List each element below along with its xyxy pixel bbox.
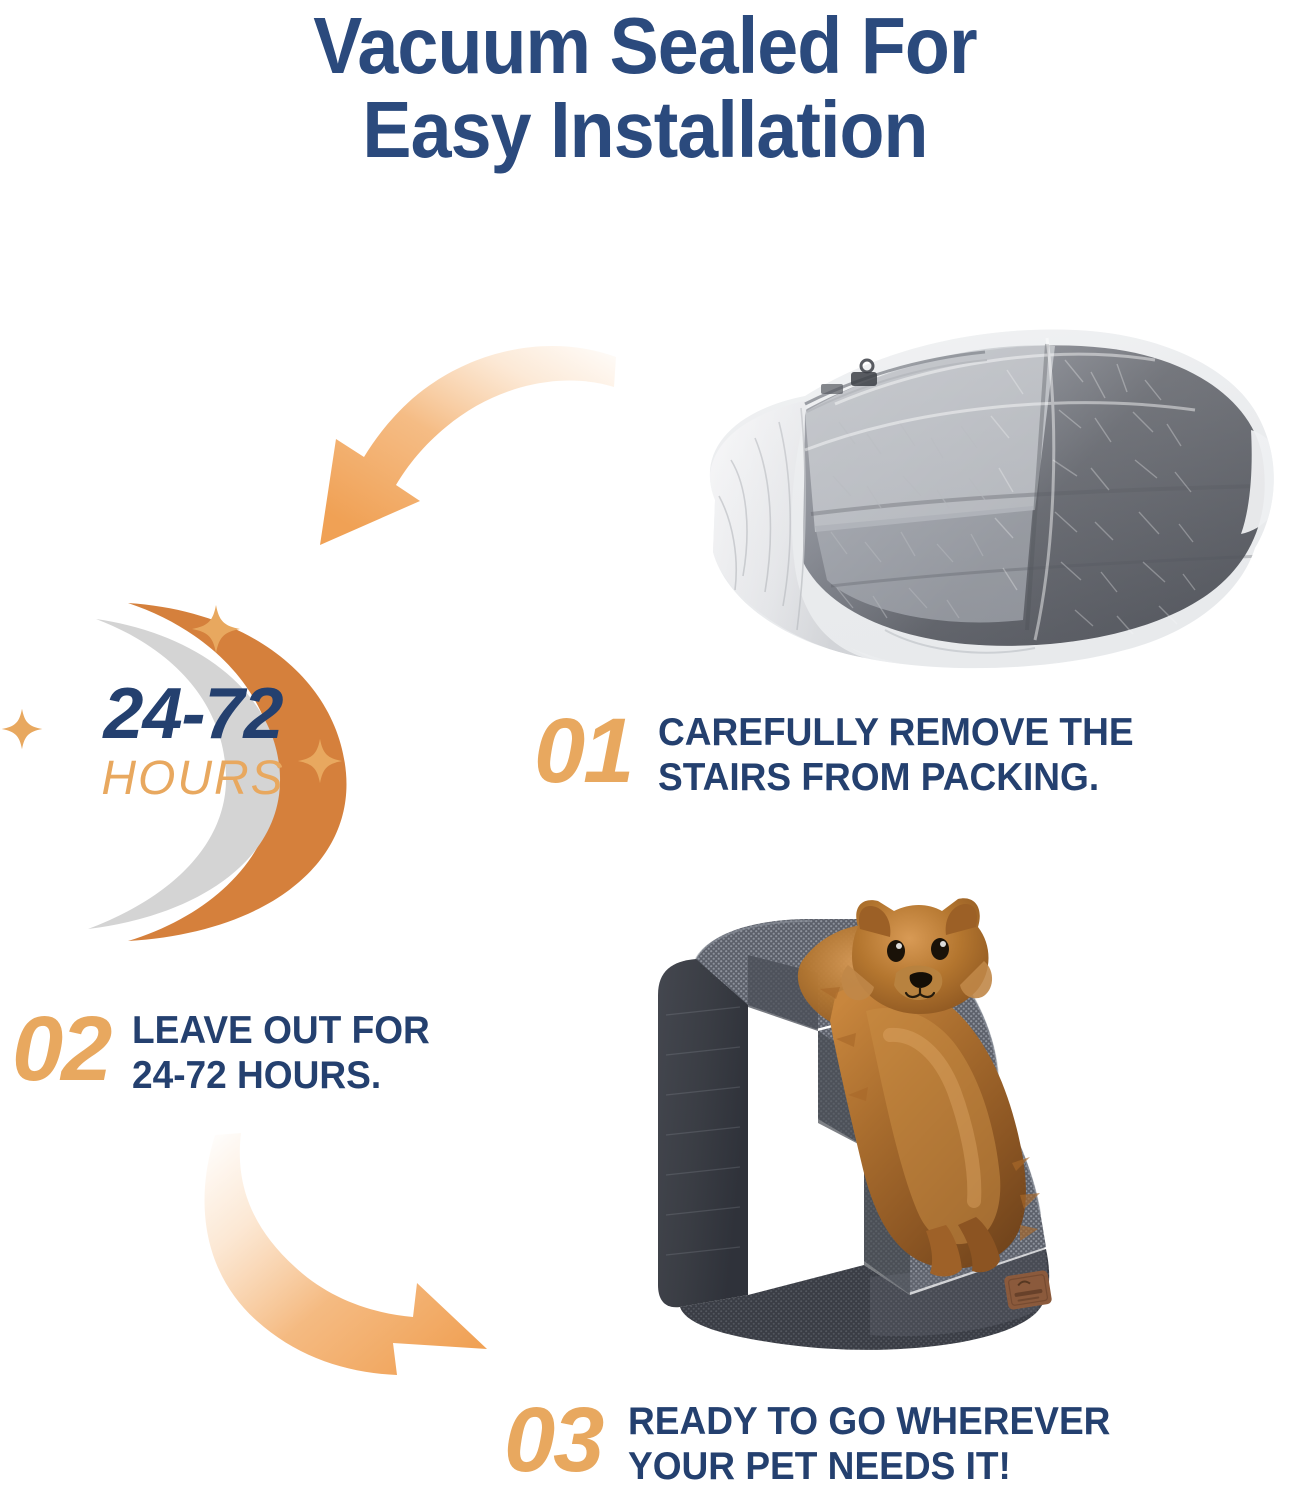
step-01: 01 CAREFULLY REMOVE THE STAIRS FROM PACK… (534, 705, 1159, 800)
curved-arrow-down-left (300, 325, 620, 565)
step-02-line-1: LEAVE OUT FOR (132, 1008, 430, 1053)
vacuum-sealed-package-photo (655, 300, 1290, 700)
page-title-line-1: Vacuum Sealed For (52, 4, 1239, 88)
infographic-root: Vacuum Sealed For Easy Installation (0, 0, 1290, 1500)
badge-hours-number: 24-72 (48, 677, 338, 751)
step-01-line-2: STAIRS FROM PACKING. (658, 755, 1134, 800)
step-01-text: CAREFULLY REMOVE THE STAIRS FROM PACKING… (658, 705, 1134, 800)
brand-logo-patch (1004, 1270, 1053, 1310)
badge-hours-word: HOURS (48, 753, 338, 805)
step-01-line-1: CAREFULLY REMOVE THE (658, 710, 1134, 755)
badge-text: 24-72 HOURS (48, 677, 338, 805)
step-01-number: 01 (534, 705, 632, 797)
step-03-line-1: READY TO GO WHEREVER (628, 1399, 1110, 1444)
step-02-number: 02 (12, 1003, 110, 1095)
step-03-text: READY TO GO WHEREVER YOUR PET NEEDS IT! (628, 1394, 1110, 1489)
step-02: 02 LEAVE OUT FOR 24-72 HOURS. (12, 1003, 446, 1098)
curved-arrow-down-right (185, 1125, 535, 1390)
24-72-hours-badge: 24-72 HOURS (0, 585, 450, 965)
step-03-number: 03 (504, 1394, 602, 1486)
sparkle-icon (190, 603, 242, 655)
step-02-line-2: 24-72 HOURS. (132, 1053, 430, 1098)
page-title-line-2: Easy Installation (52, 88, 1239, 172)
sparkle-icon (0, 707, 44, 751)
step-02-text: LEAVE OUT FOR 24-72 HOURS. (132, 1003, 430, 1098)
page-title: Vacuum Sealed For Easy Installation (0, 4, 1290, 172)
dog-on-pet-stairs-photo (640, 895, 1140, 1385)
step-03: 03 READY TO GO WHEREVER YOUR PET NEEDS I… (504, 1394, 1136, 1489)
step-03-line-2: YOUR PET NEEDS IT! (628, 1444, 1110, 1489)
